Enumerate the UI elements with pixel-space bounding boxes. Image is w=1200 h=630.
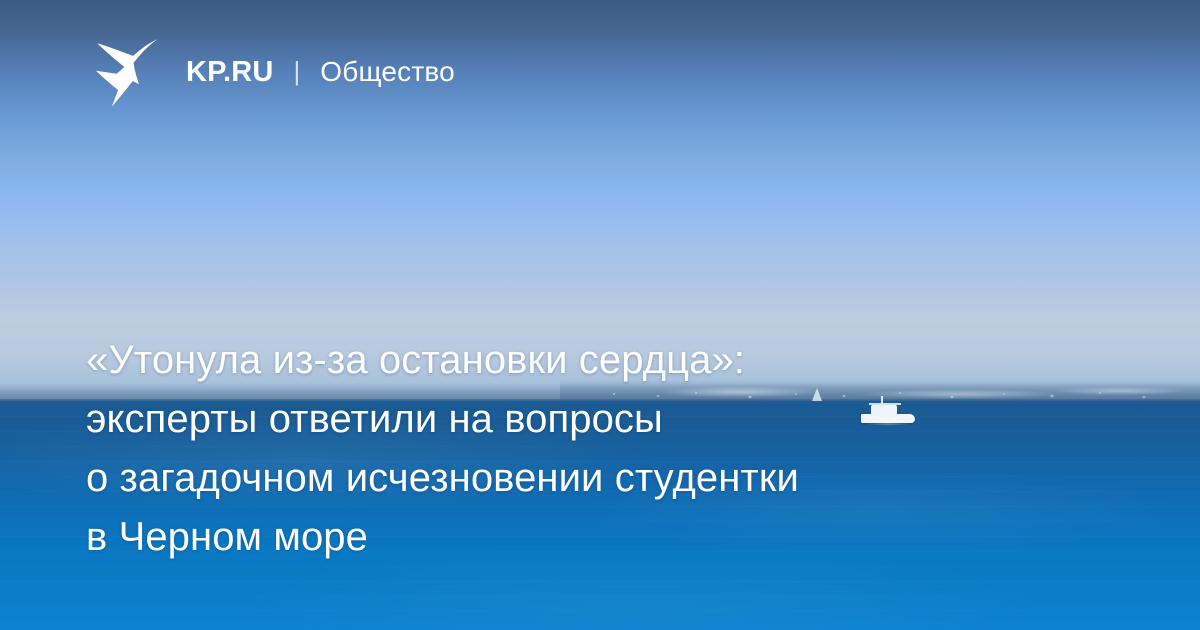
section-label[interactable]: Общество (320, 56, 455, 88)
brand-name[interactable]: KP.RU (186, 56, 274, 89)
headline-line-4: в Черном море (86, 508, 1116, 567)
headline-line-3: о загадочном исчезновении студентки (86, 449, 1116, 508)
headline: «Утонула из-за остановки сердца»: экспер… (86, 331, 1116, 567)
brand-separator: | (294, 56, 301, 87)
headline-line-1: «Утонула из-за остановки сердца»: (86, 331, 1116, 390)
swallow-bird-logo-icon (86, 36, 160, 108)
headline-line-2: эксперты ответили на вопросы (86, 390, 1116, 449)
brand-header: KP.RU | Общество (86, 36, 455, 108)
brand-text-group: KP.RU | Общество (186, 56, 455, 89)
social-share-card: KP.RU | Общество «Утонула из-за остановк… (0, 0, 1200, 630)
